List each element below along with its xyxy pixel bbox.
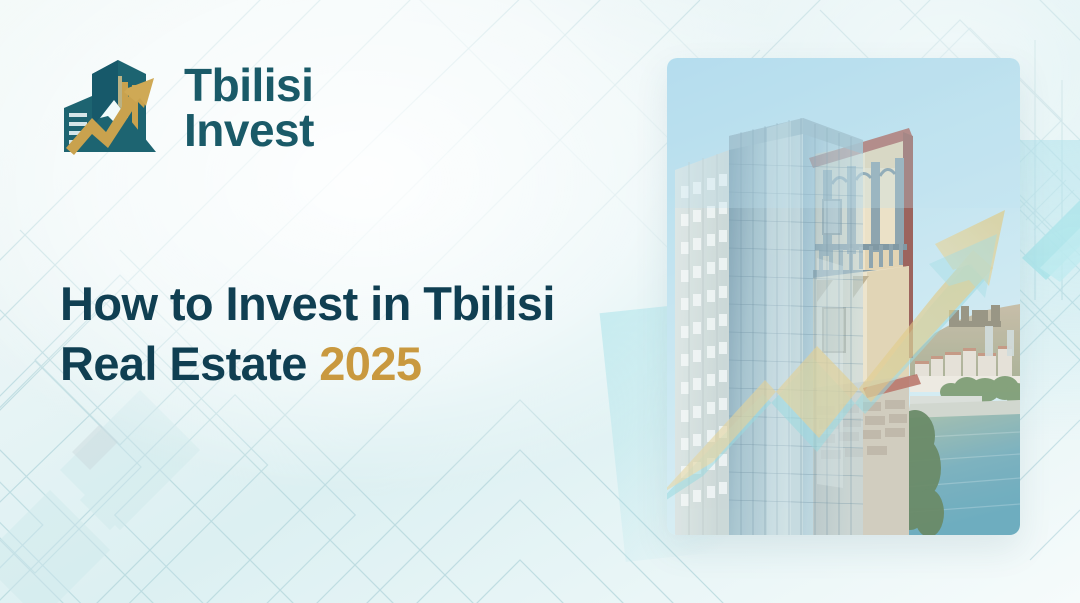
headline-line2: Real Estate bbox=[60, 337, 319, 390]
page-title: How to Invest in TbilisiReal Estate 2025 bbox=[60, 274, 680, 392]
hero-image-card bbox=[667, 58, 1020, 535]
tbilisi-invest-logo-mark-icon bbox=[58, 56, 170, 160]
headline-year: 2025 bbox=[319, 337, 421, 390]
hero-banner: Tbilisi Invest How to Invest in TbilisiR… bbox=[0, 0, 1080, 603]
brand-logo[interactable]: Tbilisi Invest bbox=[58, 56, 314, 160]
brand-logo-line1: Tbilisi bbox=[184, 63, 314, 108]
brand-logo-text: Tbilisi Invest bbox=[184, 63, 314, 153]
brand-logo-line2: Invest bbox=[184, 108, 314, 153]
headline-line1: How to Invest in Tbilisi bbox=[60, 277, 555, 330]
tbilisi-real-estate-composite-photo bbox=[667, 58, 1020, 535]
